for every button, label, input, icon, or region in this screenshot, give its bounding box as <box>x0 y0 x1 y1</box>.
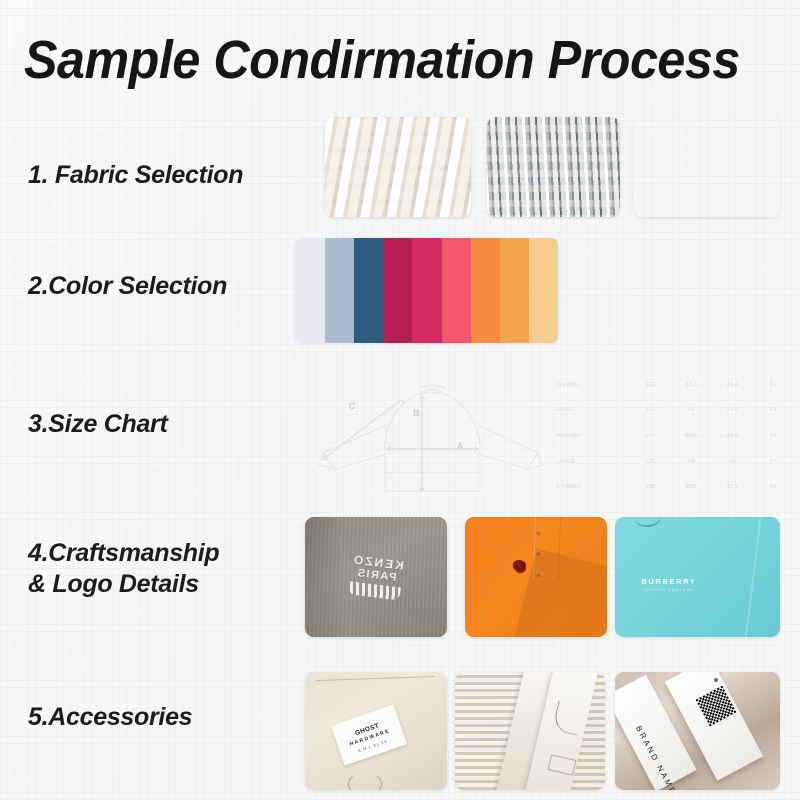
size-name: LARGE <box>556 459 630 465</box>
fabric-swatch-braided-knit[interactable] <box>325 117 471 217</box>
color-swatch-0[interactable] <box>296 238 325 343</box>
size-value: 68 <box>671 459 712 465</box>
fabric-fold <box>305 517 356 637</box>
fabric-swatch-wavy-marbled[interactable] <box>487 117 620 217</box>
accessory-photo-care-label[interactable]: GHOST HARDWARE S M L XL 2X <box>305 672 447 790</box>
size-value: 112 <box>630 382 671 388</box>
wavy-marbled-fabric-texture <box>487 117 620 217</box>
accessory-photo-brand-hang-tag[interactable]: BRAND NAME <box>615 672 780 790</box>
boucle-popcorn-texture <box>634 117 780 217</box>
size-value: 117 <box>630 407 671 413</box>
size-value: 131 <box>630 459 671 465</box>
hoodie-seam <box>316 676 435 681</box>
step-label-size-chart: 3.Size Chart <box>28 409 168 440</box>
color-swatch-1[interactable] <box>325 238 354 343</box>
size-name: MEDIUM <box>556 433 630 439</box>
grey-fabric-background: KENZO PARIS <box>305 517 447 637</box>
chunky-braided-knit-texture <box>325 117 471 217</box>
size-value: 67 <box>753 459 794 465</box>
size-value: 36.8 <box>712 433 753 439</box>
hoodie-fabric-background: GHOST HARDWARE S M L XL 2X <box>305 672 447 790</box>
garment-collar <box>634 517 662 528</box>
hang-tags-on-garment: BRAND NAME <box>615 672 780 790</box>
craft-photo-aqua-embroidery[interactable]: BURBERRY LONDON ENGLAND <box>615 517 780 637</box>
size-value: 138 <box>630 484 671 490</box>
size-value: 69.5 <box>671 484 712 490</box>
embroidered-brand-logo: BURBERRY LONDON ENGLAND <box>641 577 696 595</box>
step-label-craftsmanship: 4.Craftsmanship & Logo Details <box>28 538 219 600</box>
sweater-technical-drawing: A B C <box>305 365 555 505</box>
size-value: 61 <box>753 382 794 388</box>
aqua-garment-fabric: BURBERRY LONDON ENGLAND <box>615 517 780 637</box>
woven-care-label: GHOST HARDWARE S M L XL 2X <box>331 705 407 766</box>
page-background: Sample Condirmation Process 1. Fabric Se… <box>0 0 800 800</box>
size-chart-table: X-SMALL 112 63.3 34.4 61 SMALL 117 65 35… <box>556 372 794 500</box>
size-name: X-SMALL <box>556 382 630 388</box>
size-value: 123 <box>630 433 671 439</box>
color-swatch-3[interactable] <box>383 238 412 343</box>
brand-name: BURBERRY <box>641 577 696 586</box>
kenzo-paris-logo: KENZO PARIS <box>348 553 405 600</box>
size-value: 69 <box>753 484 794 490</box>
table-row: SMALL 117 65 35.6 63 <box>556 398 794 424</box>
color-swatch-7[interactable] <box>500 238 529 343</box>
size-name: X-LARGE <box>556 484 630 490</box>
size-value: 39.2 <box>712 484 753 490</box>
step-label-color-selection: 2.Color Selection <box>28 271 227 302</box>
color-palette-strip[interactable] <box>296 238 558 343</box>
dimension-label-c: C <box>349 401 356 411</box>
color-swatch-8[interactable] <box>529 238 558 343</box>
color-swatch-6[interactable] <box>471 238 500 343</box>
step-label-accessories: 5.Accessories <box>28 702 192 733</box>
fabric-swatch-boucle[interactable] <box>634 117 780 217</box>
craft-photo-kenzo-logo-print[interactable]: KENZO PARIS <box>305 517 447 637</box>
knit-fabric-with-tags <box>455 672 605 790</box>
brand-subtitle: LONDON ENGLAND <box>641 586 696 595</box>
page-title: Sample Condirmation Process <box>24 30 731 90</box>
dimension-label-b: B <box>413 408 420 418</box>
embroidered-emblem-icon <box>513 560 526 571</box>
color-swatch-4[interactable] <box>412 238 441 343</box>
craft-photo-orange-polo[interactable] <box>465 517 607 637</box>
size-value: 65 <box>753 433 794 439</box>
step-label-fabric-selection: 1. Fabric Selection <box>28 160 243 191</box>
drawcord <box>348 772 382 790</box>
size-value: 65 <box>671 407 712 413</box>
accessory-photo-hang-tags-knit[interactable] <box>455 672 605 790</box>
color-swatch-2[interactable] <box>354 238 383 343</box>
polo-button <box>536 530 541 535</box>
size-value: 63.3 <box>671 382 712 388</box>
size-value: 35.6 <box>712 407 753 413</box>
size-value: 63 <box>753 407 794 413</box>
size-value: 34.4 <box>712 382 753 388</box>
tag-punch-hole <box>714 678 718 682</box>
dimension-label-a: A <box>457 441 464 451</box>
step-label-craftsmanship-line1: 4.Craftsmanship <box>28 538 219 569</box>
table-row: MEDIUM 123 66.5 36.8 65 <box>556 423 794 449</box>
step-label-craftsmanship-line2: & Logo Details <box>28 569 219 600</box>
table-row: X-SMALL 112 63.3 34.4 61 <box>556 372 794 398</box>
garment-seam <box>743 517 762 637</box>
size-name: SMALL <box>556 407 630 413</box>
size-value: 38 <box>712 459 753 465</box>
orange-polo-fabric <box>465 517 607 637</box>
size-value: 66.5 <box>671 433 712 439</box>
color-swatch-5[interactable] <box>442 238 471 343</box>
table-row: LARGE 131 68 38 67 <box>556 449 794 475</box>
table-row: X-LARGE 138 69.5 39.2 69 <box>556 474 794 500</box>
